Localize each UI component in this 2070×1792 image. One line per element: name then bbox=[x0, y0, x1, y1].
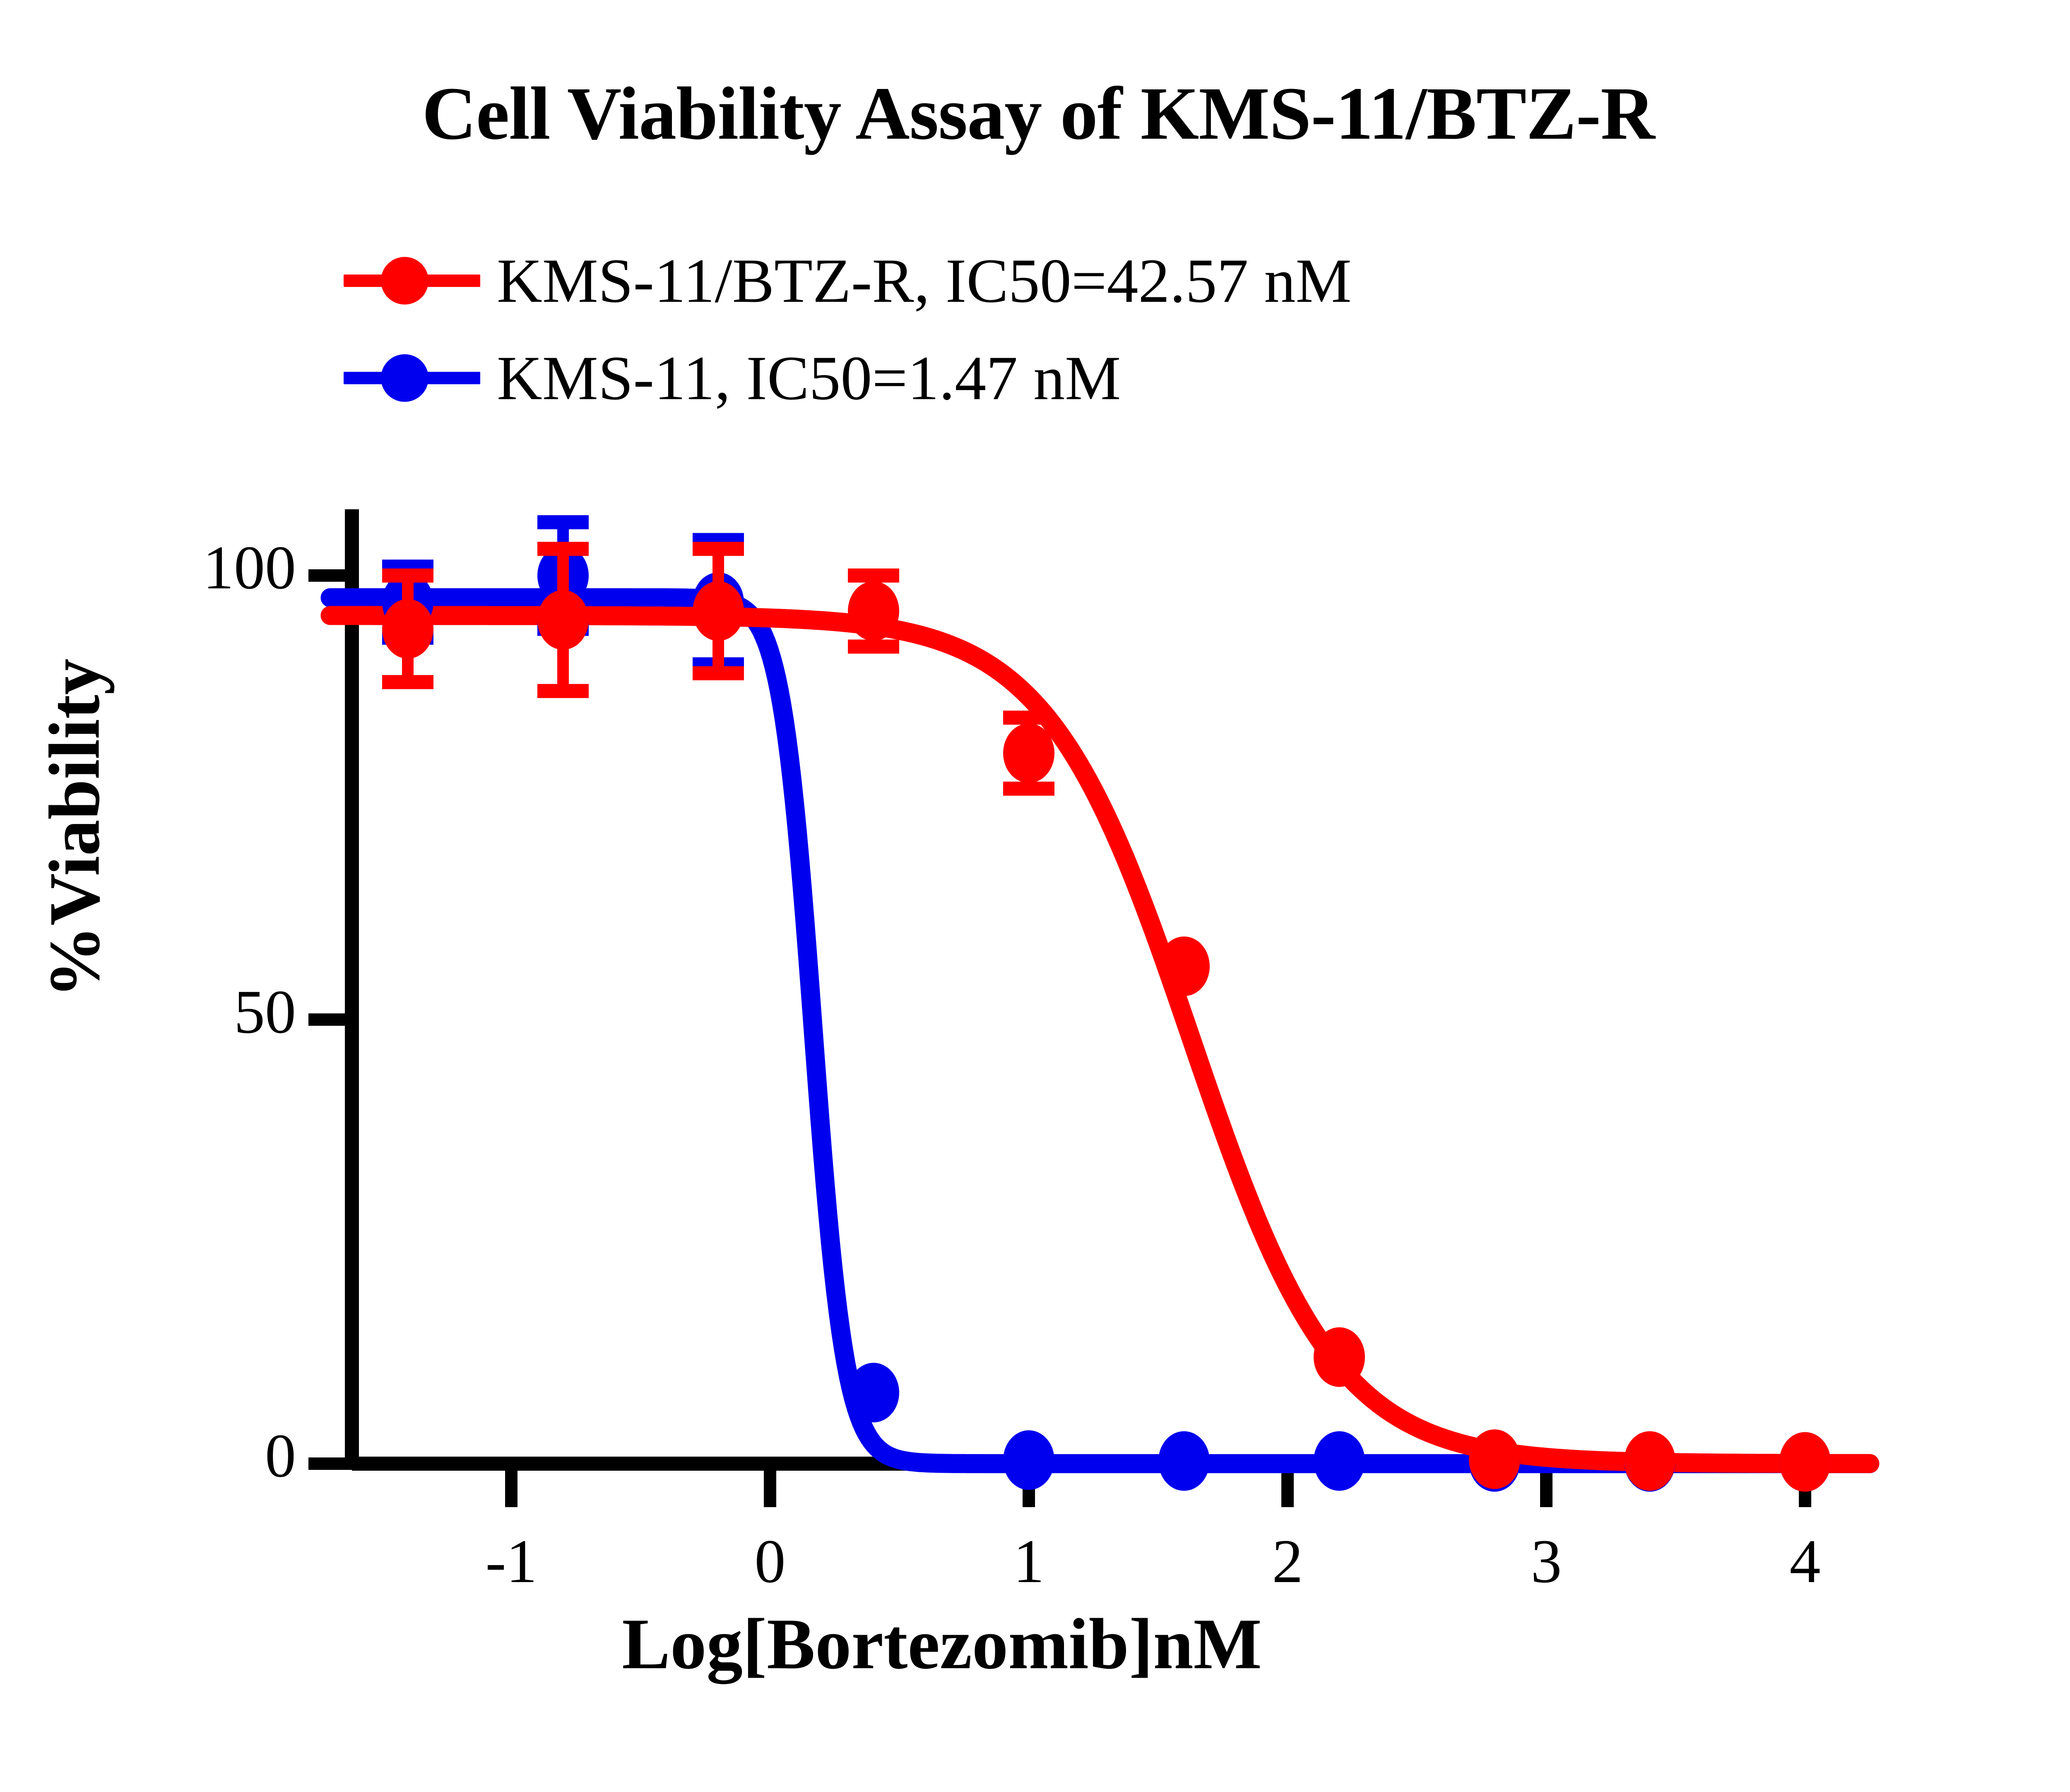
xtick-label-2: 2 bbox=[1225, 1526, 1350, 1597]
data-point bbox=[1469, 1429, 1520, 1489]
data-point bbox=[1779, 1432, 1831, 1492]
xtick-label-minus1: -1 bbox=[449, 1526, 573, 1597]
axis-lines bbox=[352, 509, 1846, 1464]
figure-root: Cell Viability Assay of KMS-11/BTZ-R KMS… bbox=[0, 0, 2070, 1792]
data-point bbox=[1003, 723, 1054, 783]
series-points bbox=[382, 522, 1831, 1491]
data-point bbox=[382, 599, 433, 659]
x-axis-label: Log[Bortezomib]nM bbox=[0, 1602, 1884, 1686]
data-point bbox=[1624, 1431, 1675, 1491]
xtick-label-4: 4 bbox=[1743, 1526, 1867, 1597]
series-curve bbox=[330, 616, 1870, 1464]
data-point bbox=[1003, 1430, 1054, 1490]
data-point bbox=[693, 581, 744, 641]
plot-area: 100 50 0 -1 0 1 2 3 4 %Viability Log[Bor… bbox=[0, 0, 2070, 1792]
data-point bbox=[1158, 1431, 1210, 1491]
xtick-label-0: 0 bbox=[708, 1526, 832, 1597]
data-point bbox=[848, 581, 899, 641]
xtick-label-3: 3 bbox=[1484, 1526, 1608, 1597]
data-point bbox=[1158, 937, 1210, 996]
data-point bbox=[848, 1363, 899, 1422]
data-point bbox=[1314, 1327, 1365, 1387]
data-point bbox=[1314, 1431, 1365, 1491]
series-points bbox=[382, 549, 1831, 1492]
plot-canvas bbox=[0, 0, 2070, 1792]
ytick-label-50: 50 bbox=[130, 976, 296, 1048]
xtick-label-1: 1 bbox=[967, 1526, 1091, 1597]
ytick-label-0: 0 bbox=[130, 1420, 296, 1491]
series-curve bbox=[330, 598, 1870, 1464]
y-axis-label: %Viability bbox=[33, 539, 116, 1118]
ytick-label-100: 100 bbox=[130, 532, 296, 603]
data-point bbox=[537, 590, 589, 650]
